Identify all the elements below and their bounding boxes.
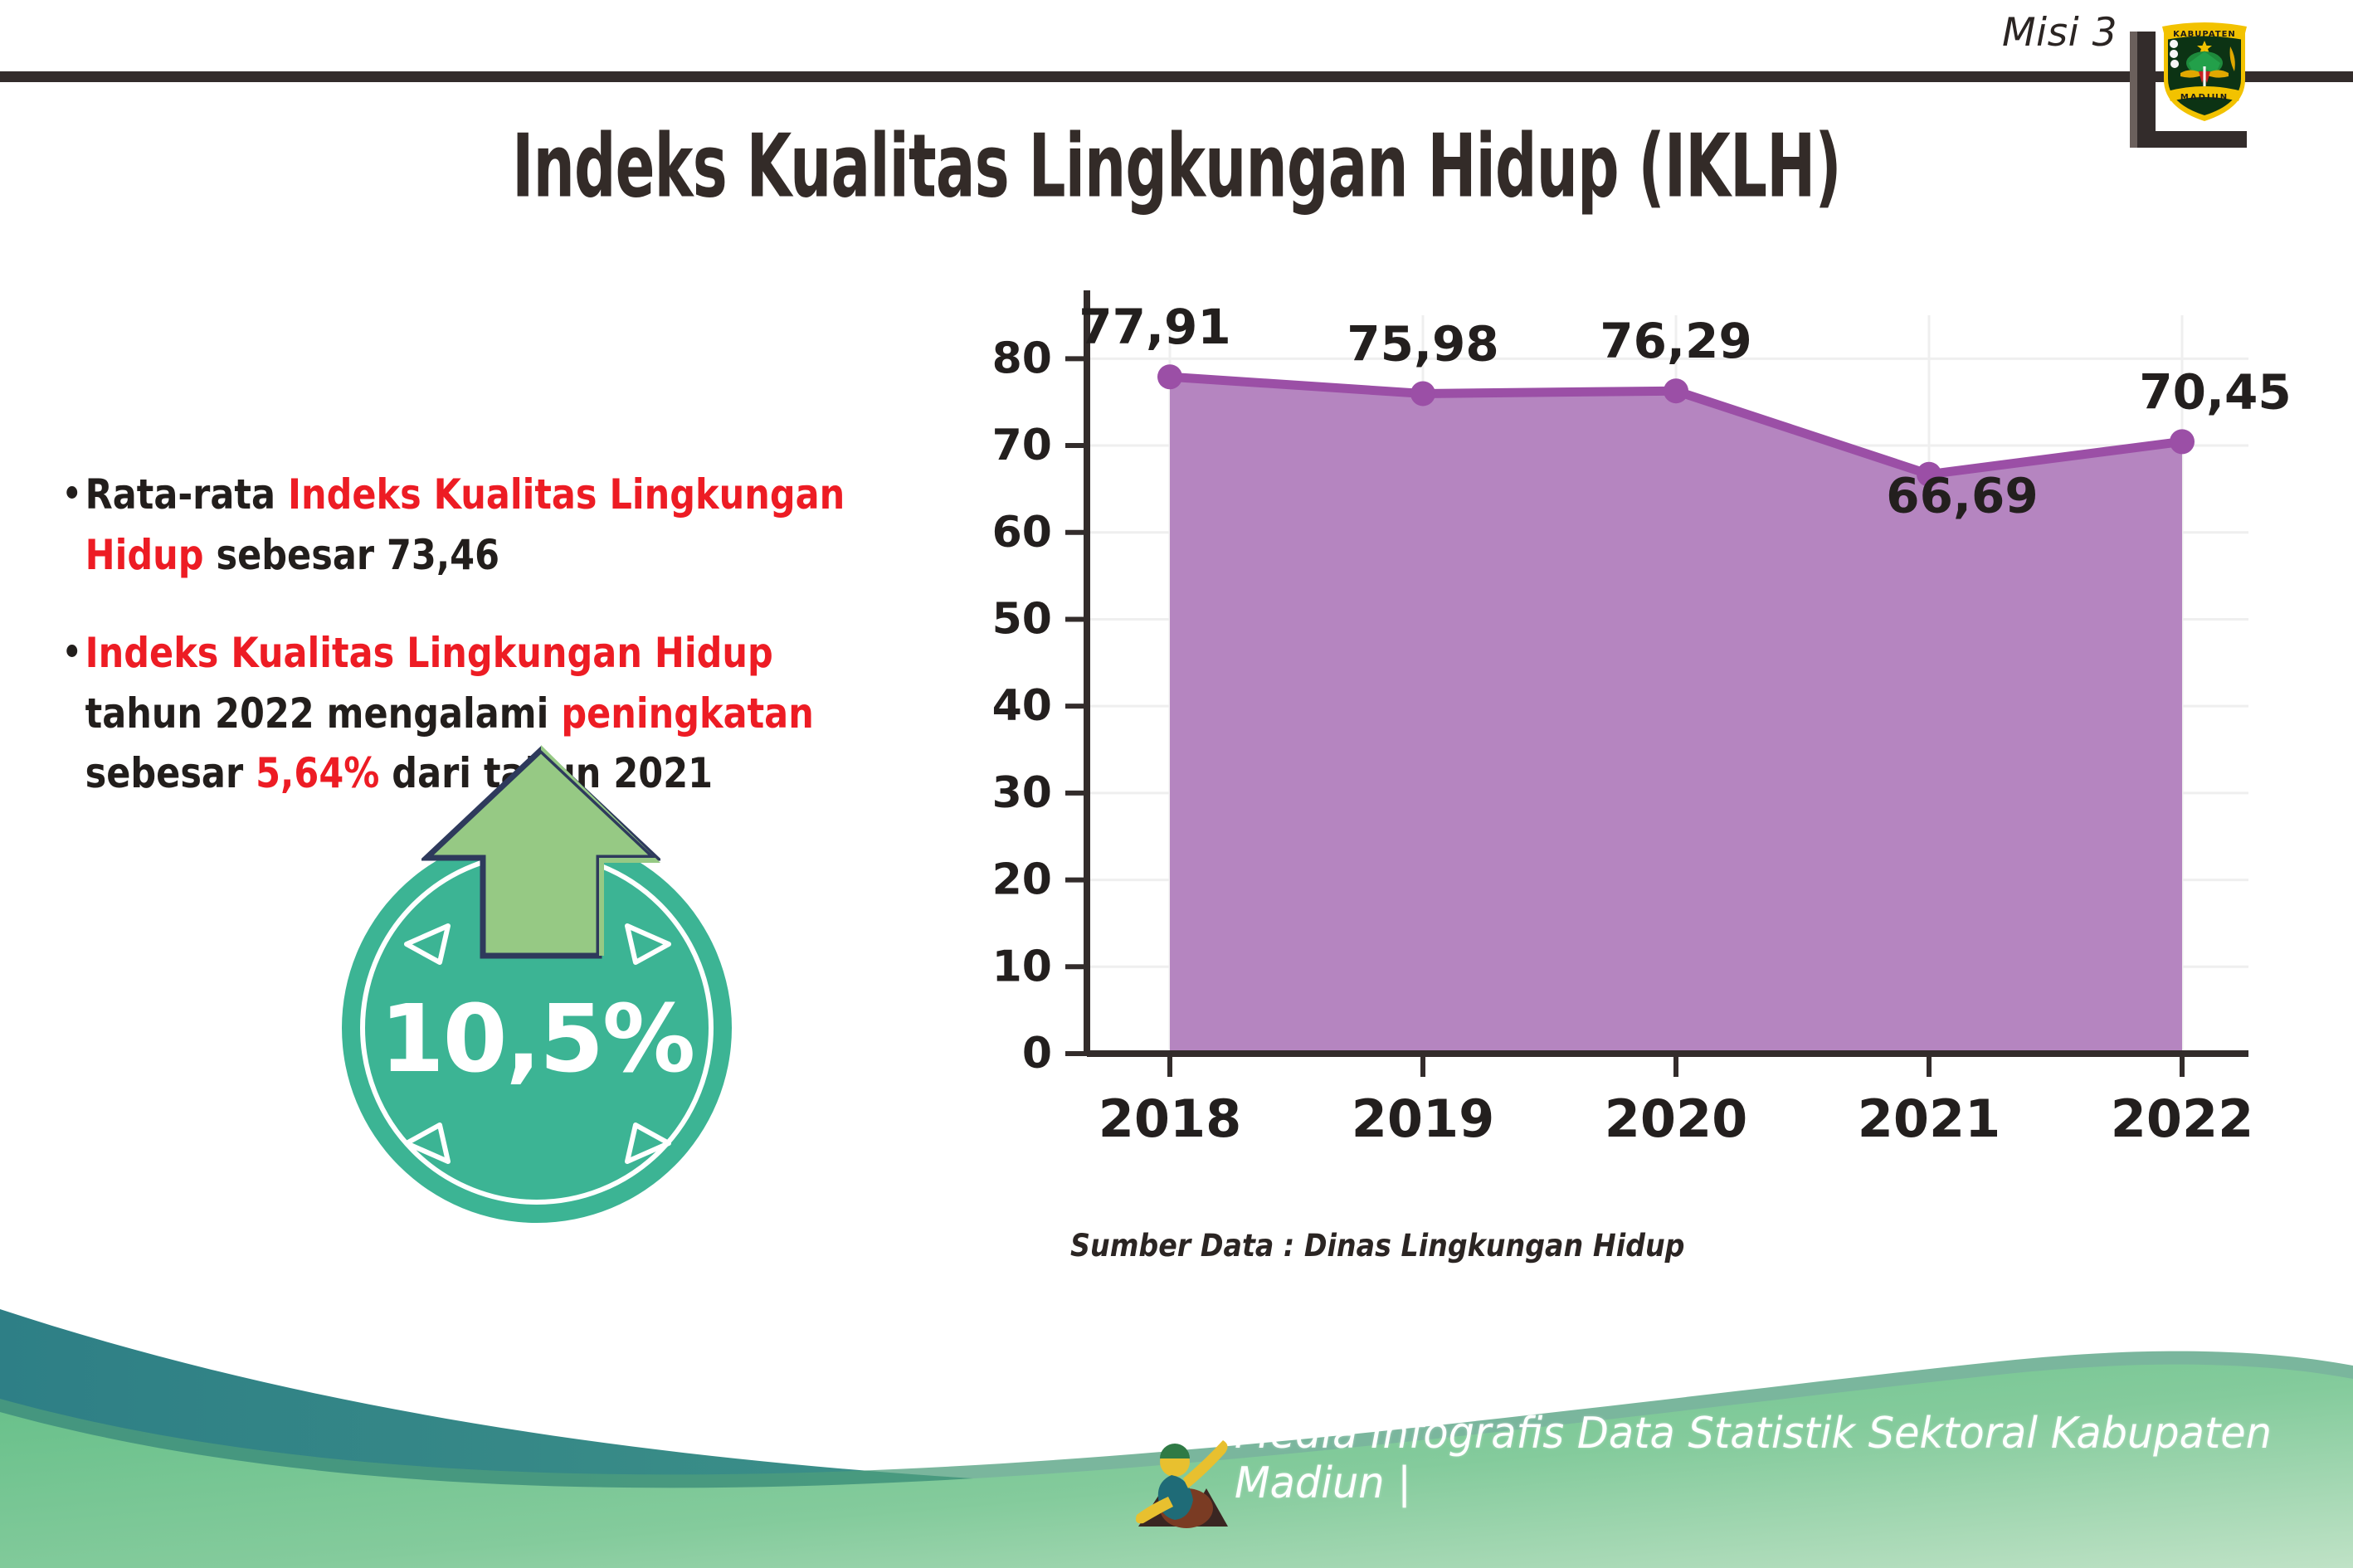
footer-text: Media Infografis Data Statistik Sektoral… [1235,1409,2297,1508]
header-divider-rule [0,71,2353,82]
triangle-tick-icon [400,921,458,971]
svg-text:2019: 2019 [1352,1088,1495,1149]
svg-text:40: 40 [992,681,1052,731]
kabupaten-madiun-crest-icon: KABUPATEN MADIUN [2156,15,2253,124]
statistics-figure-logo-icon [1135,1429,1233,1553]
bullet-dot-icon [66,645,77,657]
svg-text:2018: 2018 [1099,1088,1242,1149]
svg-text:60: 60 [992,508,1052,558]
svg-text:30: 30 [992,768,1052,818]
chart-x-tick-labels: 20182019202020212022 [1099,1088,2254,1149]
svg-text:20: 20 [992,855,1052,905]
svg-text:70: 70 [992,421,1052,470]
bullet-dot-icon [66,486,77,499]
bullet-highlight: peningkatan [561,689,813,738]
triangle-tick-icon [617,921,675,971]
triangle-tick-icon [617,1117,675,1166]
svg-text:75,98: 75,98 [1347,315,1498,372]
bullet-plain: sebesar 73,46 [204,531,499,579]
svg-text:76,29: 76,29 [1600,313,1751,369]
bullet-plain: tahun 2022 mengalami [85,689,562,738]
badge-value: 10,5% [342,986,732,1093]
iklh-area-chart: 01020304050607080 20182019202020212022 7… [979,282,2307,1195]
bullet-plain: Rata-rata [85,470,288,519]
misi-label: Misi 3 [2002,10,2117,56]
chart-y-tick-labels: 01020304050607080 [992,334,1052,1079]
svg-text:66,69: 66,69 [1886,468,2038,524]
header-bracket-foot [2137,131,2247,148]
svg-text:10: 10 [992,942,1052,991]
page-title: Indeks Kualitas Lingkungan Hidup (IKLH) [212,116,2141,217]
chart-source-note: Sumber Data : Dinas Lingkungan Hidup [1070,1228,1684,1264]
footer: Media Infografis Data Statistik Sektoral… [0,1286,2353,1568]
svg-text:2021: 2021 [1858,1088,2001,1149]
svg-text:77,91: 77,91 [1079,299,1230,355]
bullet-plain: sebesar [85,749,256,797]
bullet-text-1: Rata-rata Indeks Kualitas Lingkungan Hid… [68,465,860,585]
svg-text:2022: 2022 [2111,1088,2254,1149]
svg-text:2020: 2020 [1605,1088,1748,1149]
svg-text:0: 0 [1022,1029,1052,1079]
list-item: Rata-rata Indeks Kualitas Lingkungan Hid… [68,465,860,585]
svg-text:MADIUN: MADIUN [2180,93,2229,102]
svg-text:KABUPATEN: KABUPATEN [2173,30,2236,39]
bullet-highlight: Indeks Kualitas Lingkungan Hidup [85,629,773,677]
increase-badge: 10,5% [325,745,773,1226]
triangle-tick-icon [400,1117,458,1166]
svg-text:70,45: 70,45 [2139,363,2291,420]
svg-text:50: 50 [992,594,1052,644]
svg-text:80: 80 [992,334,1052,383]
